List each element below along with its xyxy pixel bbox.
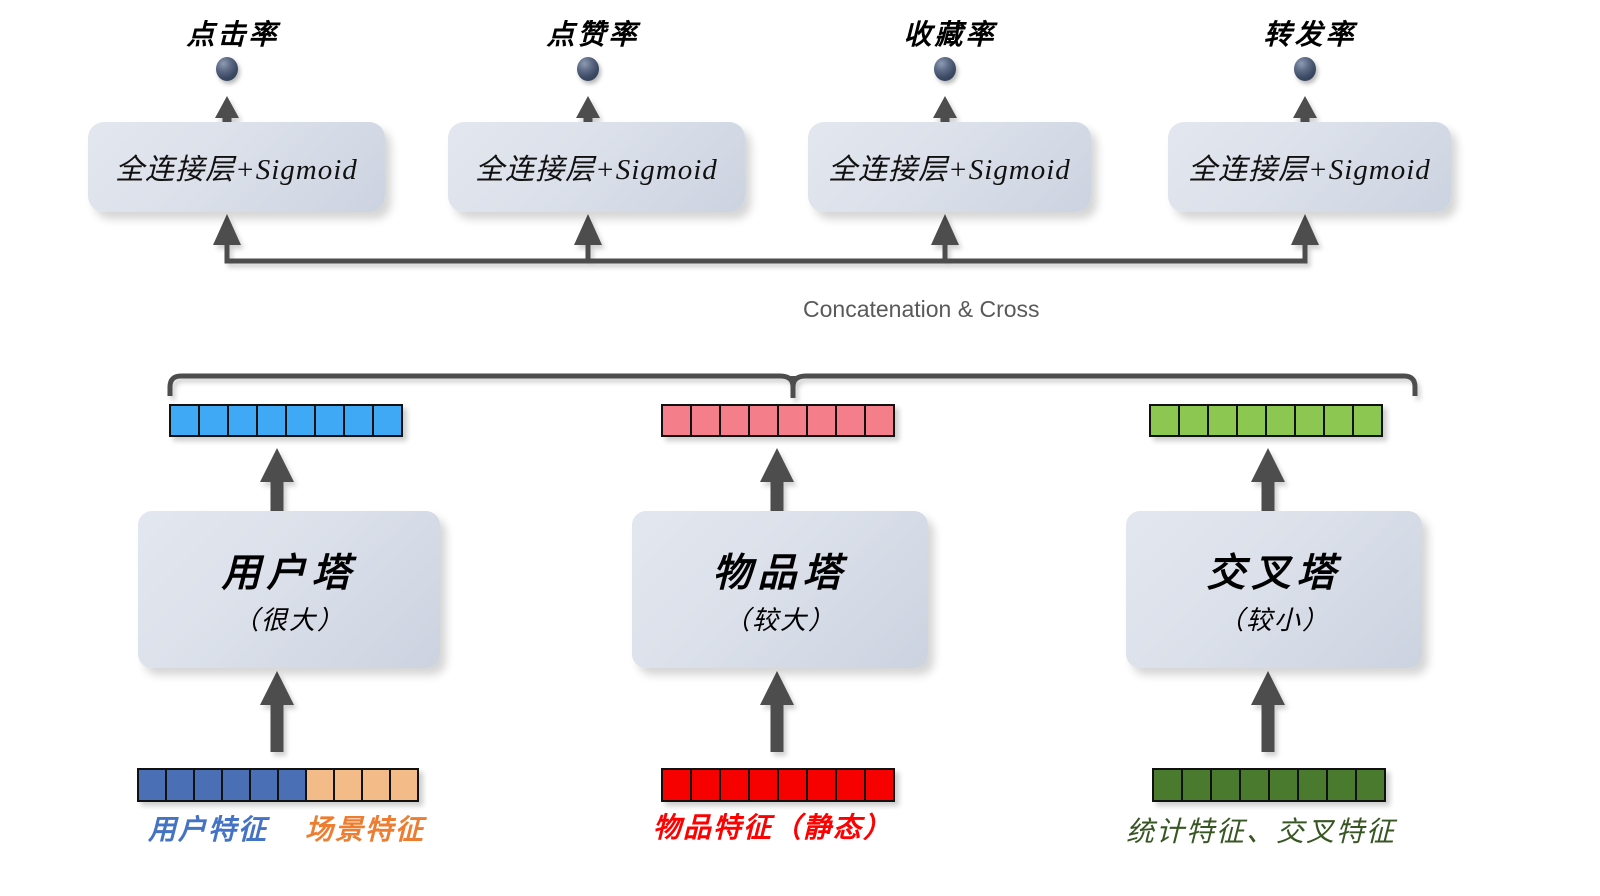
fc-sigmoid-label: 全连接层+Sigmoid: [475, 146, 718, 188]
fc-sigmoid-label: 全连接层+Sigmoid: [828, 146, 1071, 188]
stat-feature-cell: [1239, 768, 1270, 802]
output-node-share: [1294, 57, 1316, 81]
fc-sigmoid-box-like[interactable]: 全连接层+Sigmoid: [448, 122, 745, 212]
tower-box-item[interactable]: 物品塔 （较大）: [632, 511, 928, 668]
embedding-cell: [1265, 404, 1296, 437]
stat-feature-cell: [1268, 768, 1299, 802]
user-feature-cell: [221, 768, 251, 802]
stat-feature-cell: [1326, 768, 1357, 802]
output-label-favorite: 收藏率: [903, 22, 996, 50]
tower-title: 用户塔: [221, 542, 356, 598]
scene-feature-cell: [389, 768, 419, 802]
user-feature-cell: [193, 768, 223, 802]
caption-stat-cross-feature: 统计特征、交叉特征: [1126, 810, 1396, 850]
user-feature-cell: [249, 768, 279, 802]
tower-subtitle: （较大）: [724, 600, 836, 637]
embedding-cell: [1207, 404, 1238, 437]
embedding-cell: [169, 404, 200, 437]
item-feature-cell: [777, 768, 808, 802]
embedding-cell: [1352, 404, 1383, 437]
item-feature-cell: [806, 768, 837, 802]
tower-box-cross[interactable]: 交叉塔 （较小）: [1126, 511, 1422, 668]
fc-sigmoid-box-ctr[interactable]: 全连接层+Sigmoid: [88, 122, 385, 212]
cross-embedding-bar: [1149, 404, 1383, 437]
user-feature-cell: [137, 768, 167, 802]
tower-subtitle: （很大）: [233, 600, 345, 637]
concat-bracket-bottom: [170, 376, 1415, 398]
embedding-cell: [661, 404, 692, 437]
embedding-cell: [227, 404, 258, 437]
output-node-favorite: [934, 57, 956, 81]
fc-sigmoid-label: 全连接层+Sigmoid: [1188, 146, 1431, 188]
embedding-cell: [285, 404, 316, 437]
embedding-cell: [343, 404, 374, 437]
embedding-cell: [1149, 404, 1180, 437]
embedding-cell: [748, 404, 779, 437]
stat-feature-cell: [1210, 768, 1241, 802]
embedding-cell: [1323, 404, 1354, 437]
scene-feature-cell: [333, 768, 363, 802]
tower-subtitle: （较小）: [1218, 600, 1330, 637]
user-input-feature-bar: [137, 768, 419, 802]
embedding-cell: [835, 404, 866, 437]
tower-title: 交叉塔: [1206, 542, 1341, 598]
item-input-feature-bar: [661, 768, 895, 802]
fc-sigmoid-box-share[interactable]: 全连接层+Sigmoid: [1168, 122, 1451, 212]
tower-to-embedding-arrows: [260, 448, 1285, 519]
concat-bus-top: [213, 214, 1319, 261]
input-to-tower-arrows: [260, 671, 1285, 752]
output-node-ctr: [216, 57, 238, 81]
scene-feature-cell: [361, 768, 391, 802]
embedding-cell: [1294, 404, 1325, 437]
item-feature-cell: [748, 768, 779, 802]
fc-sigmoid-box-favorite[interactable]: 全连接层+Sigmoid: [808, 122, 1091, 212]
diagram-canvas: 点击率 点赞率 收藏率 转发率 全连接层+Sigmoid 全连接层+Sigmoi…: [0, 0, 1600, 896]
embedding-cell: [864, 404, 895, 437]
stat-feature-cell: [1297, 768, 1328, 802]
concatenation-cross-label: Concatenation & Cross: [803, 298, 1040, 321]
stat-feature-cell: [1181, 768, 1212, 802]
user-feature-cell: [277, 768, 307, 802]
embedding-cell: [690, 404, 721, 437]
stat-feature-cell: [1355, 768, 1386, 802]
caption-scene-feature: 场景特征: [305, 808, 425, 848]
output-label-like: 点赞率: [546, 22, 639, 50]
item-feature-cell: [835, 768, 866, 802]
caption-user-feature: 用户特征: [148, 808, 268, 848]
embedding-cell: [719, 404, 750, 437]
item-embedding-bar: [661, 404, 895, 437]
user-embedding-bar: [169, 404, 403, 437]
embedding-cell: [777, 404, 808, 437]
embedding-cell: [256, 404, 287, 437]
item-feature-cell: [719, 768, 750, 802]
scene-feature-cell: [305, 768, 335, 802]
tower-box-user[interactable]: 用户塔 （很大）: [138, 511, 440, 668]
embedding-cell: [314, 404, 345, 437]
embedding-cell: [372, 404, 403, 437]
output-label-ctr: 点击率: [186, 22, 279, 50]
item-feature-cell: [661, 768, 692, 802]
output-label-share: 转发率: [1263, 22, 1356, 50]
cross-input-feature-bar: [1152, 768, 1386, 802]
stat-feature-cell: [1152, 768, 1183, 802]
fc-sigmoid-label: 全连接层+Sigmoid: [115, 146, 358, 188]
embedding-cell: [1178, 404, 1209, 437]
user-feature-cell: [165, 768, 195, 802]
embedding-cell: [1236, 404, 1267, 437]
item-feature-cell: [690, 768, 721, 802]
output-node-like: [577, 57, 599, 81]
embedding-cell: [806, 404, 837, 437]
embedding-cell: [198, 404, 229, 437]
caption-item-feature: 物品特征（静态）: [653, 806, 893, 846]
tower-title: 物品塔: [712, 542, 847, 598]
item-feature-cell: [864, 768, 895, 802]
